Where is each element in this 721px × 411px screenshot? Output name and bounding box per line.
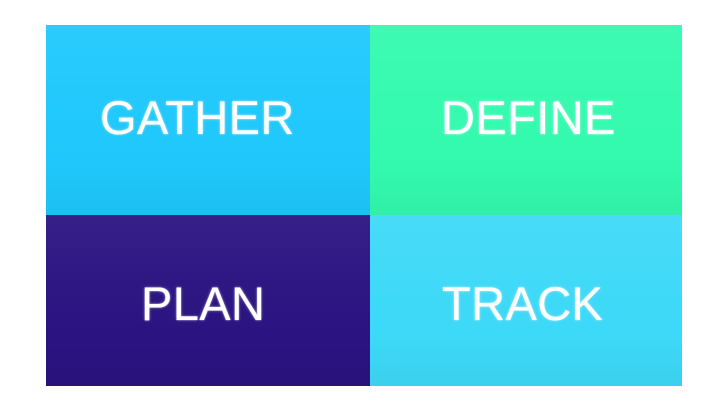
quadrant-panel: GATHER DEFINE PLAN TRACK xyxy=(46,25,682,386)
quadrant-label-gather: GATHER xyxy=(100,94,295,141)
quadrant-gather[interactable]: GATHER xyxy=(46,25,370,215)
quadrant-define[interactable]: DEFINE xyxy=(370,25,682,215)
quadrant-label-track: TRACK xyxy=(442,280,603,327)
quadrant-plan[interactable]: PLAN xyxy=(46,215,370,386)
quadrant-track[interactable]: TRACK xyxy=(370,215,682,386)
quadrant-label-plan: PLAN xyxy=(141,280,265,327)
quadrant-label-define: DEFINE xyxy=(441,94,616,141)
